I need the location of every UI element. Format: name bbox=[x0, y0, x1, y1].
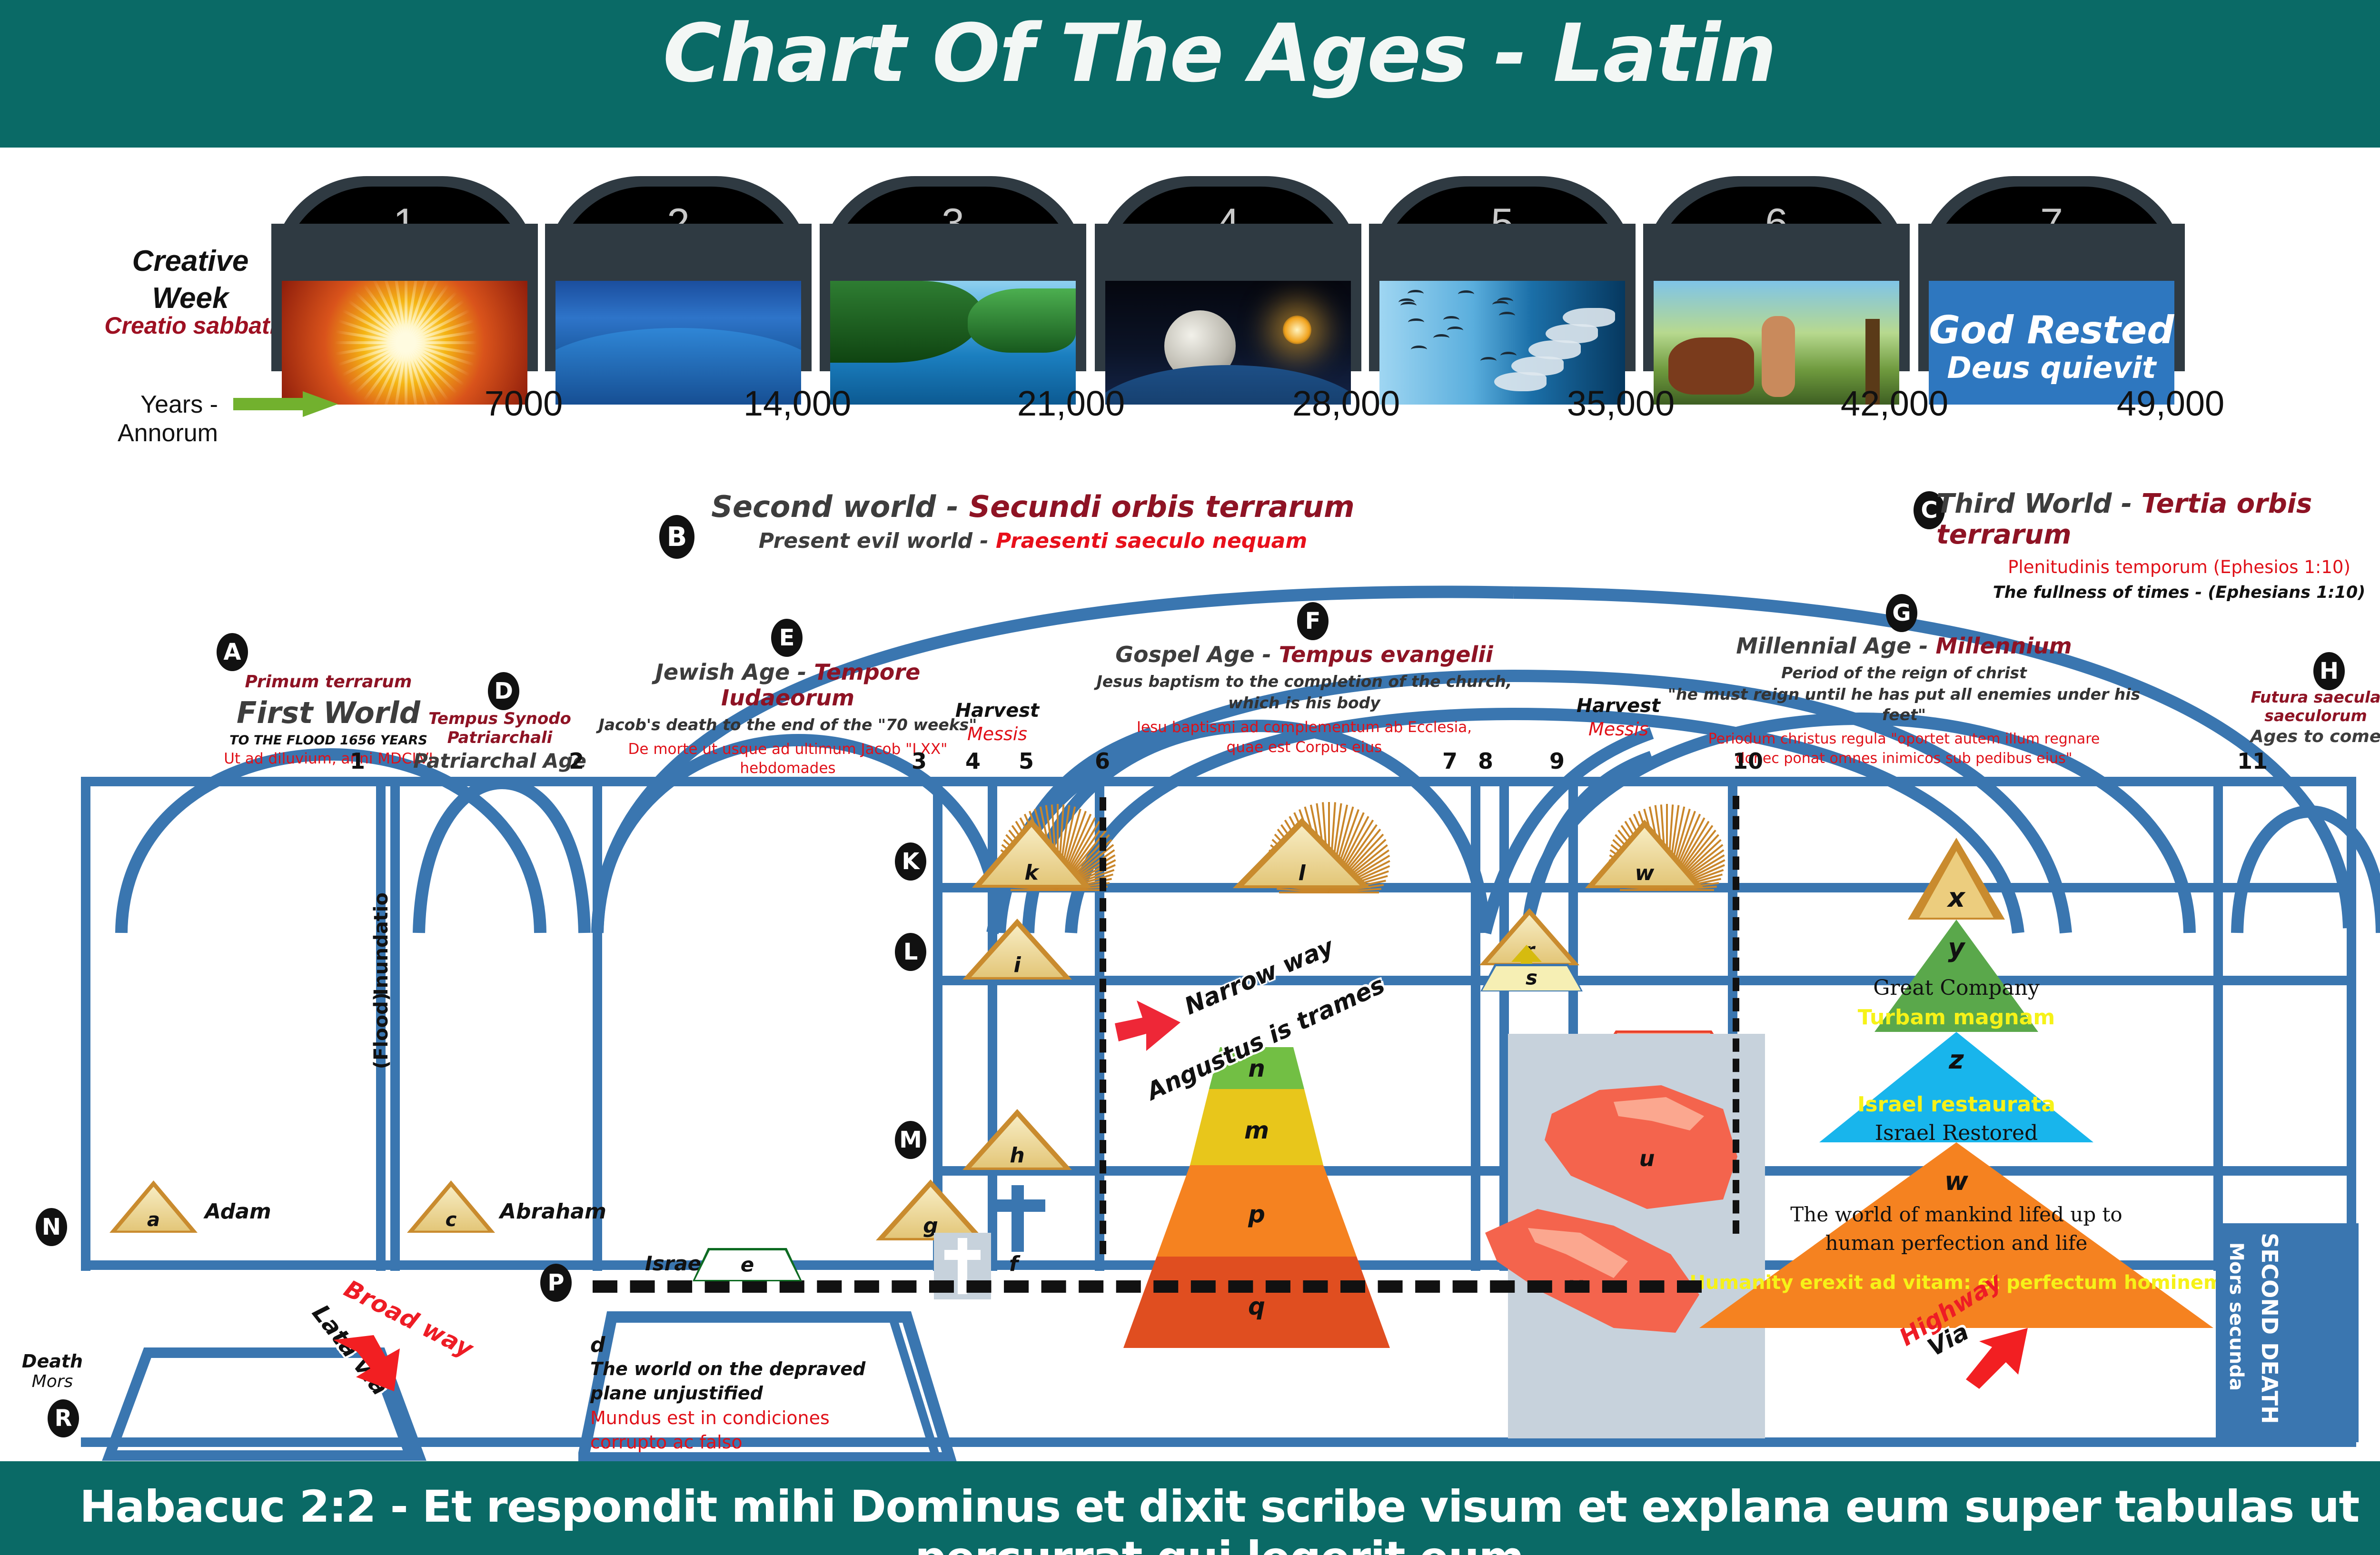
column-number-2: 2 bbox=[569, 748, 584, 774]
right-pyramid-turbam-magnam: Turbam magnam bbox=[1858, 1005, 2055, 1030]
column-number-8: 8 bbox=[1478, 748, 1493, 774]
third-world-en: Third World bbox=[1936, 488, 2112, 519]
badge-h: H bbox=[2313, 652, 2345, 690]
day-frame bbox=[545, 224, 812, 371]
rail-right bbox=[2347, 777, 2356, 1271]
year-tick-7000: 7000 bbox=[424, 383, 624, 424]
death-la: Mors bbox=[10, 1372, 95, 1391]
label-flood-la: Inundatio bbox=[370, 892, 392, 995]
second-death-la: Mors secunda bbox=[2225, 1242, 2247, 1391]
marker-triangle-adam: a bbox=[109, 1180, 198, 1233]
creative-day-panel-6: 6 bbox=[1643, 176, 1910, 333]
badge-d: D bbox=[488, 672, 519, 710]
bird-icon bbox=[1443, 316, 1459, 324]
creative-day-panel-3: 3 bbox=[820, 176, 1086, 333]
year-tick-35000: 35,000 bbox=[1521, 383, 1721, 424]
creative-day-panel-2: 2 bbox=[545, 176, 812, 333]
badge-l: L bbox=[895, 933, 926, 971]
plane-label-u: u bbox=[1639, 1146, 1655, 1171]
rail-top bbox=[81, 777, 2356, 786]
jewish-sub-en: Jacob's death to the end of the "70 week… bbox=[590, 715, 985, 735]
plane-label-e: e bbox=[693, 1253, 802, 1277]
millennial-sub-en-2: "he must reign until he has put all enem… bbox=[1666, 684, 2142, 725]
day-frame bbox=[820, 224, 1086, 371]
age-gospel: Gospel Age - Tempus evangelii Jesus bapt… bbox=[1095, 642, 1514, 757]
d-box-la-2: corrupto ac falso bbox=[590, 1430, 952, 1455]
sepF: - bbox=[1255, 642, 1279, 667]
footer-verse: Habacuc 2:2 - Et respondit mihi Dominus … bbox=[0, 1481, 2380, 1555]
bird-icon bbox=[1499, 312, 1515, 320]
harvest-label-2: Harvest Messis bbox=[1557, 695, 1680, 740]
column-number-3: 3 bbox=[912, 748, 927, 774]
plane-triangle-g: g bbox=[876, 1179, 985, 1240]
rail-2 bbox=[593, 777, 602, 1271]
plane-label-l: l bbox=[1233, 861, 1371, 885]
badge-m: M bbox=[895, 1121, 926, 1159]
age-patriarchal: Tempus Synodo Patriarchali Patriarchal A… bbox=[407, 709, 593, 773]
year-tick-49000: 49,000 bbox=[2071, 383, 2271, 424]
bird-icon bbox=[1433, 334, 1449, 342]
page-title: Chart Of The Ages - Latin bbox=[0, 7, 2380, 100]
label-adam: Adam bbox=[205, 1199, 271, 1224]
israel-dashed-road bbox=[593, 1280, 1702, 1293]
age-millennial: Millennial Age - Millennium Period of th… bbox=[1666, 633, 2142, 768]
present-evil-en: Present evil world bbox=[759, 529, 972, 553]
harvest-label-1: Harvest Messis bbox=[935, 700, 1059, 744]
bird-icon bbox=[1497, 297, 1513, 306]
column-number-1: 1 bbox=[350, 748, 365, 774]
right-pyramid-label-y: y bbox=[1948, 933, 1966, 963]
jewish-title-en: Jewish Age bbox=[655, 659, 790, 685]
ages-to-come-la-1: Futura saecula bbox=[2247, 688, 2380, 706]
rail-left bbox=[81, 777, 90, 1271]
day-frame bbox=[271, 224, 538, 371]
plane-trapezoid-s: s bbox=[1480, 964, 1583, 991]
plane-triangle-h: h bbox=[962, 1109, 1072, 1170]
patriarchal-la-1: Tempus Synodo bbox=[407, 709, 593, 728]
right-pyramid-israel-restaurata: Israel restaurata bbox=[1857, 1092, 2055, 1117]
harvest-la-2: Messis bbox=[1557, 719, 1680, 740]
bird-icon bbox=[1500, 352, 1517, 360]
right-pyramid-label-x: x bbox=[1946, 882, 1966, 913]
right-pyramid-mankind-1: The world of mankind lifed up to bbox=[1790, 1203, 2122, 1226]
bird-icon bbox=[1480, 357, 1497, 365]
bird-icon bbox=[1447, 327, 1463, 335]
badge-n: N bbox=[36, 1208, 67, 1246]
plane-label-f: f bbox=[1009, 1252, 1018, 1276]
plane-label-k: k bbox=[972, 861, 1091, 885]
right-pyramid-great-company: Great Company bbox=[1873, 976, 2040, 1000]
sep3: - bbox=[2112, 488, 2142, 519]
year-tick-28000: 28,000 bbox=[1246, 383, 1446, 424]
timeline-arrow-icon bbox=[233, 393, 338, 415]
year-tick-14000: 14,000 bbox=[697, 383, 897, 424]
creative-week-label: Creative Week bbox=[86, 243, 295, 317]
sepE: - bbox=[790, 659, 814, 685]
ages-to-come-title: Ages to come bbox=[2247, 727, 2380, 746]
right-pyramid-israel-restored: Israel Restored bbox=[1875, 1121, 2038, 1145]
bird-icon bbox=[1458, 290, 1474, 298]
center-pyramid-label-m: m bbox=[1244, 1117, 1269, 1144]
creative-day-panel-7: 7God RestedDeus quievit bbox=[1918, 176, 2185, 333]
year-tick-21000: 21,000 bbox=[971, 383, 1171, 424]
god-rested-en: God Rested bbox=[1929, 308, 2174, 352]
first-world-la: Primum terrarum bbox=[131, 672, 526, 692]
harvest-la-1: Messis bbox=[935, 723, 1059, 744]
d-box-tag: d bbox=[590, 1333, 952, 1357]
gospel-sub-en-2: which is his body bbox=[1095, 693, 1514, 713]
d-box-en-1: The world on the depraved bbox=[590, 1357, 952, 1381]
creative-week-line2: Week bbox=[86, 280, 295, 317]
badge-f: F bbox=[1297, 602, 1329, 640]
man-icon bbox=[1762, 316, 1795, 397]
age-ages-to-come: Futura saecula saeculorum Ages to come bbox=[2247, 688, 2380, 746]
badge-e: E bbox=[771, 619, 803, 657]
center-pyramid-label-p: p bbox=[1248, 1200, 1265, 1228]
chart-of-the-ages-page: Chart Of The Ages - Latin Creative Week … bbox=[0, 0, 2380, 1555]
bird-icon bbox=[1408, 318, 1424, 327]
right-pyramid-mankind-2: human perfection and life bbox=[1825, 1231, 2088, 1255]
d-box-la-1: Mundus est in condiciones bbox=[590, 1406, 952, 1430]
right-pyramid: x y Great Company Turbam magnam z Israel… bbox=[1685, 809, 2228, 1352]
gospel-title-la: Tempus evangelii bbox=[1279, 642, 1493, 667]
third-world-eph-la: Plenitudinis temporum (Ephesios 1:10) bbox=[1936, 557, 2380, 577]
third-world-header: Third World - Tertia orbis terrarum Plen… bbox=[1936, 488, 2380, 602]
day-frame: God RestedDeus quievit bbox=[1918, 224, 2185, 371]
present-evil-la: Praesenti saeculo nequam bbox=[996, 529, 1307, 553]
column-number-10: 10 bbox=[1733, 748, 1763, 774]
second-death-en: SECOND DEATH bbox=[2257, 1233, 2282, 1424]
bird-icon bbox=[1411, 346, 1427, 354]
column-number-6: 6 bbox=[1095, 748, 1110, 774]
center-pyramid: n m p q bbox=[1085, 1047, 1428, 1352]
second-world-header: Second world - Secundi orbis terrarum Pr… bbox=[700, 489, 1366, 553]
column-number-5: 5 bbox=[1019, 748, 1034, 774]
marker-triangle-abraham: c bbox=[407, 1180, 495, 1233]
sun-icon bbox=[1283, 316, 1311, 344]
column-number-7: 7 bbox=[1442, 748, 1458, 774]
sep2: - bbox=[972, 529, 996, 553]
second-death-bar: SECOND DEATH Mors secunda bbox=[2216, 1223, 2359, 1442]
plane-label-s: s bbox=[1480, 966, 1583, 990]
gospel-sub-en-1: Jesus baptism to the completion of the c… bbox=[1095, 672, 1514, 692]
day-frame bbox=[1369, 224, 1636, 371]
gospel-sub-la-1: Iesu baptismi ad complementum ab Ecclesi… bbox=[1095, 718, 1514, 737]
column-number-9: 9 bbox=[1549, 748, 1565, 774]
marker-label-c: c bbox=[407, 1209, 495, 1231]
millennial-title-en: Millennial Age bbox=[1736, 633, 1911, 659]
d-box-en-2: plane unjustified bbox=[590, 1381, 952, 1406]
plane-triangle-i: i bbox=[962, 919, 1072, 980]
badge-p: P bbox=[540, 1264, 572, 1302]
millennial-title-la: Millennium bbox=[1935, 633, 2072, 659]
creative-day-panel-1: 1 bbox=[271, 176, 538, 333]
patriarchal-title: Patriarchal Age bbox=[407, 749, 593, 773]
patriarchal-la-2: Patriarchali bbox=[407, 728, 593, 747]
creative-day-panel-4: 4 bbox=[1095, 176, 1361, 333]
sep: - bbox=[936, 489, 969, 524]
d-box-text: d The world on the depraved plane unjust… bbox=[590, 1333, 952, 1455]
marker-label-a: a bbox=[109, 1209, 198, 1231]
gospel-title-en: Gospel Age bbox=[1115, 642, 1254, 667]
sepG: - bbox=[1911, 633, 1935, 659]
badge-a: A bbox=[217, 633, 248, 671]
bird-icon bbox=[1408, 290, 1424, 298]
plane-label-h: h bbox=[962, 1143, 1072, 1168]
plane-trapezoid-e: e bbox=[693, 1248, 802, 1281]
cross-icon-vertical bbox=[1011, 1185, 1024, 1252]
right-pyramid-label-w: w bbox=[1944, 1166, 1969, 1196]
creative-day-panel-5: 5 bbox=[1369, 176, 1636, 333]
harvest-en-1: Harvest bbox=[935, 700, 1059, 722]
second-world-la: Secundi orbis terrarum bbox=[969, 489, 1354, 524]
second-world-en: Second world bbox=[711, 489, 936, 524]
highway-arrow-icon bbox=[1956, 1318, 2037, 1390]
badge-r: R bbox=[48, 1399, 79, 1437]
label-abraham: Abraham bbox=[500, 1199, 606, 1224]
death-label: Death Mors bbox=[10, 1351, 95, 1391]
badge-b: B bbox=[659, 515, 694, 559]
ages-to-come-la-2: saeculorum bbox=[2247, 706, 2380, 725]
column-number-11: 11 bbox=[2237, 748, 2268, 774]
badge-k: K bbox=[895, 842, 926, 881]
day-frame bbox=[1643, 224, 1910, 371]
center-pyramid-label-q: q bbox=[1248, 1293, 1265, 1320]
year-tick-42000: 42,000 bbox=[1795, 383, 1994, 424]
harvest-en-2: Harvest bbox=[1557, 695, 1680, 717]
badge-g: G bbox=[1886, 594, 1917, 632]
death-en: Death bbox=[10, 1351, 95, 1372]
millennial-sub-en-1: Period of the reign of christ bbox=[1666, 663, 2142, 683]
column-number-4: 4 bbox=[965, 748, 981, 774]
right-pyramid-label-z: z bbox=[1948, 1045, 1964, 1075]
broad-way-arrow-icon bbox=[328, 1330, 409, 1402]
dashed-line-10 bbox=[1733, 796, 1746, 1234]
millennial-sub-la-1: Periodum christus regula "oportet autem … bbox=[1666, 730, 2142, 748]
plane-triangle-k: k bbox=[972, 819, 1091, 888]
day-frame bbox=[1095, 224, 1361, 371]
god-rested-la: Deus quievit bbox=[1929, 350, 2174, 385]
plane-label-i: i bbox=[962, 953, 1072, 977]
third-world-eph-en: The fullness of times - (Ephesians 1:10) bbox=[1936, 583, 2380, 602]
narrow-way-arrow-icon bbox=[1109, 995, 1188, 1061]
plane-triangle-l: l bbox=[1233, 818, 1371, 888]
bird-icon bbox=[1400, 302, 1417, 310]
label-flood-en: (Flood) bbox=[370, 992, 392, 1069]
cross-icon-horizontal bbox=[990, 1199, 1045, 1212]
creative-week-line1: Creative bbox=[86, 243, 295, 280]
